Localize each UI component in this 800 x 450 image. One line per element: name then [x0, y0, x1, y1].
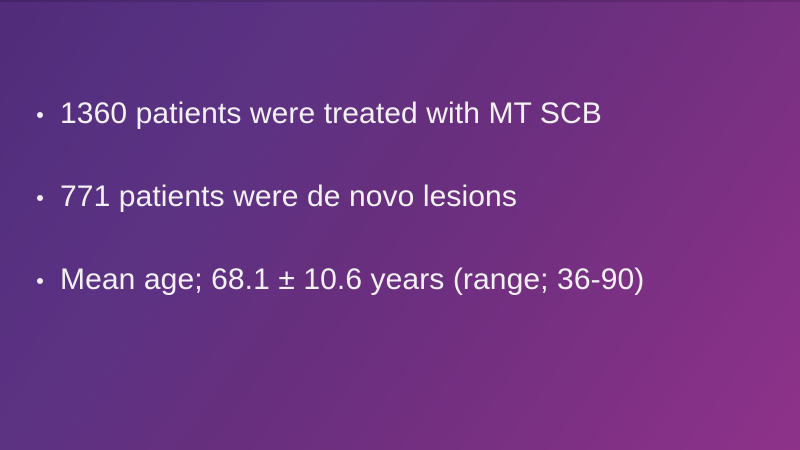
bullet-dot-icon — [37, 112, 43, 118]
bullet-item-text: 771 patients were de novo lesions — [60, 179, 750, 215]
bullet-item-text: 1360 patients were treated with MT SCB — [60, 96, 750, 132]
list-item[interactable]: Mean age; 68.1 ± 10.6 years (range; 36-9… — [30, 262, 750, 298]
list-item[interactable]: 771 patients were de novo lesions — [30, 179, 750, 215]
slide-canvas: 1360 patients were treated with MT SCB 7… — [0, 0, 800, 450]
list-item[interactable]: 1360 patients were treated with MT SCB — [30, 96, 750, 132]
bullet-dot-icon — [37, 278, 43, 284]
bullet-item-text: Mean age; 68.1 ± 10.6 years (range; 36-9… — [60, 262, 750, 298]
slide-body-placeholder[interactable]: 1360 patients were treated with MT SCB 7… — [30, 96, 750, 298]
bullet-dot-icon — [37, 195, 43, 201]
